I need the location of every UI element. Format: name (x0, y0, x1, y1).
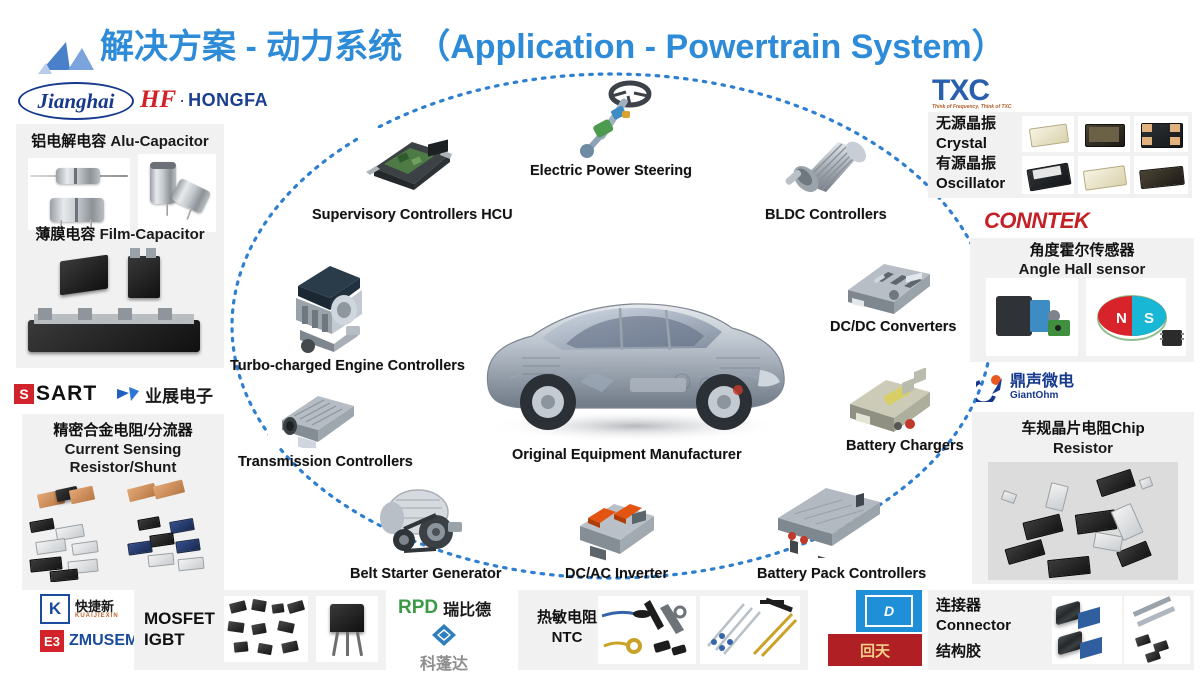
hongfa-mark: HF (140, 86, 176, 114)
connector-parts-photo-2 (1124, 596, 1190, 664)
crystal-photo-2 (1078, 116, 1130, 152)
igbt-package-photo (316, 596, 378, 662)
bldc-motor-photo (776, 132, 874, 204)
brand-logo-connector: D (856, 590, 922, 632)
inverter-photo (570, 490, 666, 562)
kuaijiexin-mark: K (40, 594, 70, 624)
slide-canvas: 解决方案 - 动力系统（Application - Powertrain Sys… (0, 0, 1200, 674)
shunt-resistor-photo-2 (126, 478, 188, 506)
node-label-belt-starter-generator: Belt Starter Generator (350, 566, 502, 582)
label-alu-capacitor-en: Alu-Capacitor (110, 133, 208, 150)
huitian-wordmark: 回天 (860, 640, 890, 661)
kelongda-mark-icon (430, 622, 458, 648)
node-label-turbo-charged-engine-controllers: Turbo-charged Engine Controllers (230, 358, 465, 374)
crystal-label-line2: Crystal (936, 134, 1006, 154)
node-label-battery-chargers: Battery Chargers (846, 438, 964, 454)
battery-pack-photo (770, 478, 890, 558)
film-capacitor-photo-tall (120, 244, 170, 302)
node-label-electric-power-steering: Electric Power Steering (530, 163, 692, 179)
txc-tagline: Think of Frequency, Think of TXC (932, 104, 1012, 110)
crystal-label-line4: Oscillator (936, 174, 1006, 194)
giantohm-wordmark-cn: 鼎声微电 (1010, 374, 1074, 390)
jianghai-wordmark: Jianghai (37, 89, 114, 114)
onboard-charger-photo (840, 368, 944, 440)
label-ntc-en: NTC (528, 628, 606, 648)
page-title: 解决方案 - 动力系统（Application - Powertrain Sys… (100, 26, 1160, 68)
title-chinese: 解决方案 - 动力系统 (100, 28, 402, 66)
yezhan-mark-icon (115, 385, 141, 405)
zmusemi-wordmark: ZMUSEMI (69, 632, 143, 650)
brand-logo-hongfa: HF · HONGFA (140, 86, 268, 114)
brand-logo-txc: TXC Think of Frequency, Think of TXC (932, 78, 1012, 110)
alu-capacitor-photo-snapin (138, 154, 216, 232)
chip-shunt-group-left (28, 512, 118, 582)
brand-logo-sart: S SART (14, 382, 97, 406)
cutaway-car-photo (470, 258, 800, 443)
node-label-dc-dc-converters: DC/DC Converters (830, 319, 957, 335)
label-chip-resistor-line1: 车规晶片电阻Chip (972, 420, 1194, 437)
triangles-logo-icon (38, 34, 100, 76)
ecu-module-photo (358, 128, 462, 194)
label-film-capacitor-en: Film-Capacitor (100, 226, 205, 243)
rpd-wordmark-cn: 瑞比德 (443, 596, 491, 620)
label-hall-sensor-en: Angle Hall sensor (970, 261, 1194, 278)
conntek-wordmark: CONNTEK (984, 208, 1089, 234)
label-ntc-cn: 热敏电阻 (528, 608, 606, 628)
mosfet-package-photo (224, 596, 308, 662)
label-mosfet: MOSFET (144, 608, 215, 629)
shunt-resistor-photo-1 (36, 482, 96, 512)
title-english: （Application - Powertrain System） (416, 28, 1005, 66)
hall-magnet-diagram: N S (1086, 278, 1186, 356)
connector-brand-mark: D (865, 595, 913, 627)
node-label-bldc-controllers: BLDC Controllers (765, 207, 887, 223)
kuaijiexin-wordmark-en: KUAIJIEXIN (75, 613, 119, 619)
label-film-capacitor: 薄膜电容 Film-Capacitor (20, 226, 220, 243)
txc-wordmark: TXC (932, 78, 989, 104)
svg-text:N: N (1116, 310, 1127, 327)
film-capacitor-photo-box (56, 250, 112, 300)
brand-logo-rpd: RPD 瑞比德 (398, 596, 491, 620)
crystal-label-line1: 无源晶振 (936, 114, 1006, 134)
node-label-supervisory-controllers-hcu: Supervisory Controllers HCU (312, 207, 513, 223)
chip-resistor-photo (988, 462, 1178, 580)
connector-parts-photo-1 (1052, 596, 1122, 664)
hall-sensor-motor-photo (986, 278, 1078, 356)
brand-logo-conntek: CONNTEK (984, 208, 1089, 234)
node-label-battery-pack-controllers: Battery Pack Controllers (757, 566, 926, 582)
alu-capacitor-photo-axial (28, 158, 130, 230)
label-connector-cn: 连接器 (936, 596, 1011, 616)
oscillator-photo-3 (1134, 156, 1188, 194)
oscillator-photo-2 (1078, 156, 1130, 194)
crystal-label-group: 无源晶振 Crystal 有源晶振 Oscillator (936, 114, 1006, 194)
starter-generator-photo (370, 478, 474, 560)
label-connector: 连接器 Connector (936, 596, 1011, 636)
rpd-wordmark: RPD (398, 597, 438, 619)
label-alu-capacitor-cn: 铝电解电容 (31, 133, 106, 150)
brand-logo-zmusemi: E3 ZMUSEMI (40, 630, 143, 652)
chip-shunt-group-right (124, 514, 212, 580)
engine-photo (280, 252, 376, 356)
label-alu-capacitor: 铝电解电容 Alu-Capacitor (20, 133, 220, 150)
node-label-dc-ac-inverter: DC/AC Inverter (565, 566, 668, 582)
node-label-transmission-controllers: Transmission Controllers (238, 454, 413, 470)
zmusemi-mark: E3 (40, 630, 64, 652)
steering-column-photo (568, 78, 664, 162)
hongfa-wordmark: HONGFA (188, 90, 268, 111)
brand-logo-jianghai: Jianghai (18, 82, 134, 120)
yezhan-wordmark: 业展电子 (145, 382, 213, 407)
center-hub-label: Original Equipment Manufacturer (512, 447, 742, 463)
brand-logo-kuaijiexin: K 快捷新 KUAIJIEXIN (40, 594, 119, 624)
brand-logo-kelongda: 科蓬达 (420, 622, 468, 674)
brand-logo-yezhan: 业展电子 (115, 382, 213, 407)
label-current-sensing-cn: 精密合金电阻/分流器 (22, 422, 224, 439)
label-connector-en: Connector (936, 616, 1011, 636)
kelongda-wordmark: 科蓬达 (420, 650, 468, 674)
sart-mark: S (14, 384, 34, 404)
crystal-label-line3: 有源晶振 (936, 154, 1006, 174)
ntc-probe-photo-2 (700, 596, 800, 664)
label-ntc: 热敏电阻 NTC (528, 608, 606, 648)
slide-title-bar: 解决方案 - 动力系统（Application - Powertrain Sys… (0, 12, 1200, 70)
ntc-probe-photo-1 (598, 596, 696, 664)
giantohm-wordmark-en: GiantOhm (1010, 390, 1074, 401)
label-igbt: IGBT (144, 629, 215, 650)
crystal-photo-1 (1022, 116, 1074, 152)
label-chip-resistor-line2: Resistor (972, 440, 1194, 457)
transmission-ecu-photo (268, 386, 364, 448)
label-structural-adhesive: 结构胶 (936, 640, 981, 661)
brand-logo-huitian: 回天 (828, 634, 922, 666)
kuaijiexin-wordmark-cn: 快捷新 (75, 600, 119, 613)
svg-text:S: S (1144, 310, 1154, 327)
brand-logo-giantohm: 鼎声微电 GiantOhm (976, 372, 1074, 402)
label-mosfet-igbt: MOSFET IGBT (144, 608, 215, 650)
crystal-photo-3 (1134, 116, 1188, 152)
label-film-capacitor-cn: 薄膜电容 (35, 226, 95, 243)
oscillator-photo-1 (1022, 156, 1074, 194)
film-capacitor-photo-module (24, 306, 204, 362)
sart-wordmark: SART (36, 382, 97, 406)
giantohm-mark-icon (976, 372, 1006, 402)
label-current-sensing-en2: Resistor/Shunt (22, 459, 224, 476)
dcdc-converter-photo (836, 250, 940, 322)
label-hall-sensor-cn: 角度霍尔传感器 (970, 242, 1194, 259)
label-current-sensing-en1: Current Sensing (22, 441, 224, 458)
